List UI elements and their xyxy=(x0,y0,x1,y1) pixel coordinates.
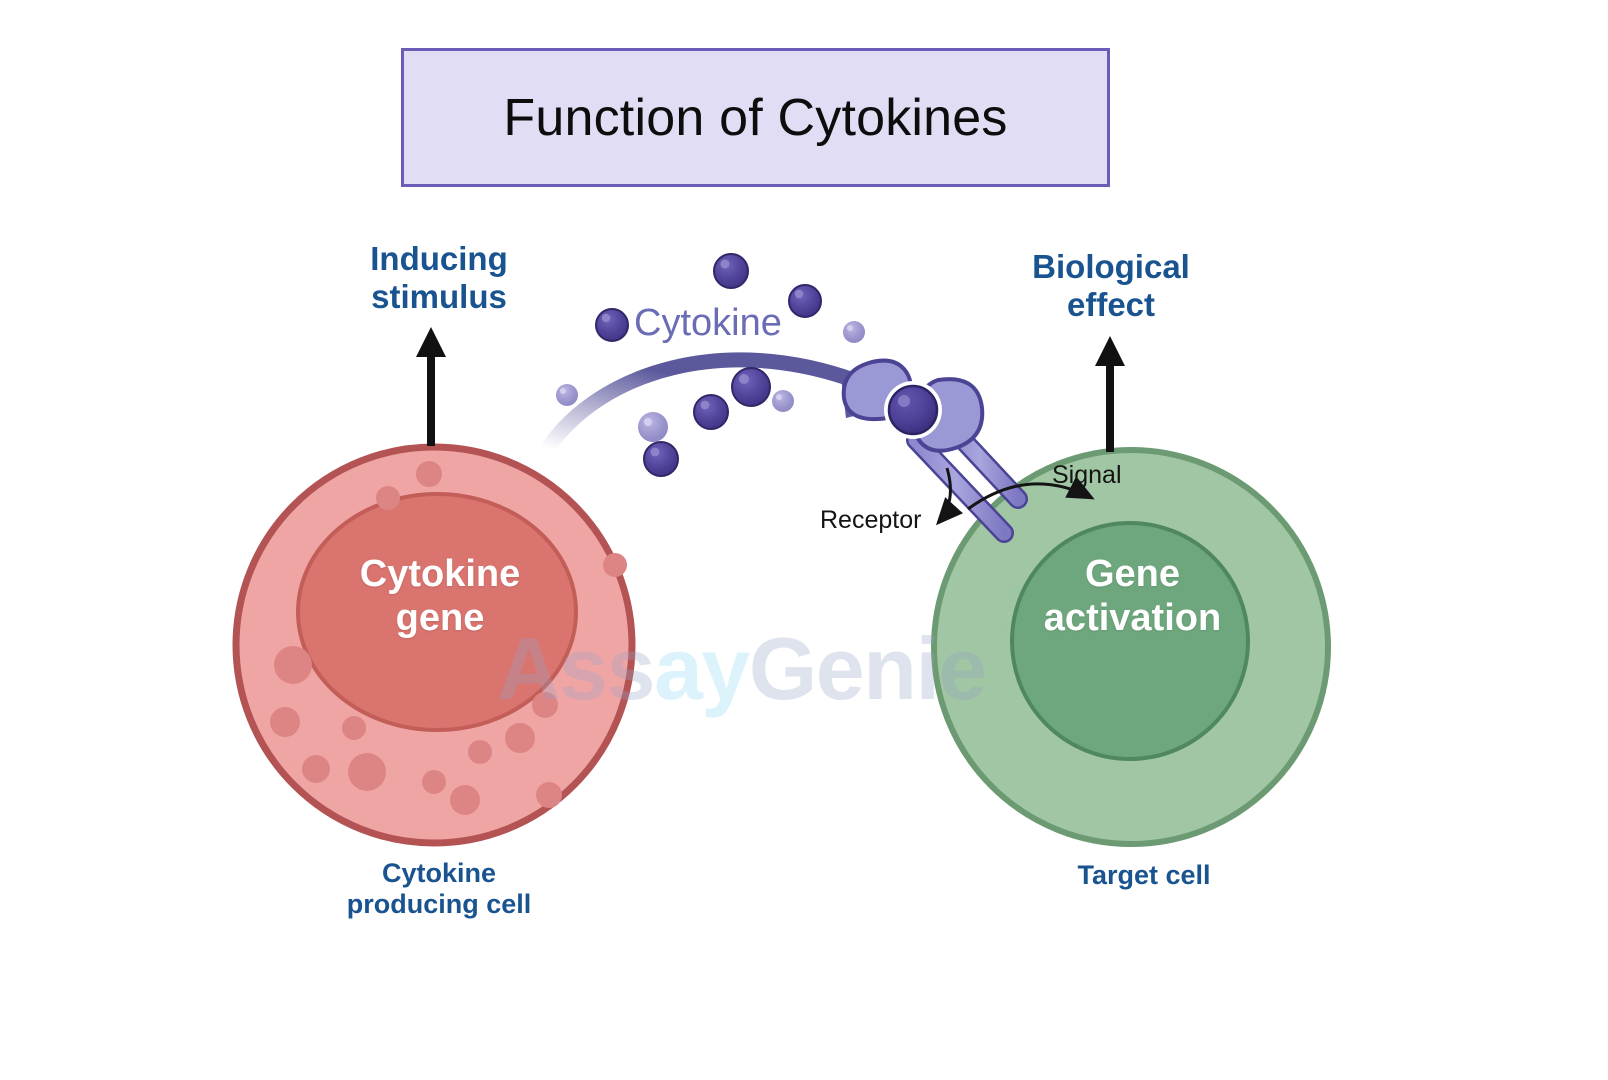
cytokine-dot xyxy=(772,390,794,412)
inducing-stimulus-arrow xyxy=(416,327,446,446)
cytokine-dot xyxy=(789,285,821,317)
diagram-canvas: AssayGenie Function of Cytokines Inducin… xyxy=(0,0,1608,1080)
cytokine-dot xyxy=(596,309,628,341)
label-cytokine: Cytokine xyxy=(634,302,782,345)
cytokine-dot xyxy=(714,254,748,288)
label-cytokine-producing-cell: Cytokine producing cell xyxy=(300,858,578,920)
label-target-cell: Target cell xyxy=(1022,860,1266,891)
label-signal: Signal xyxy=(1052,461,1122,490)
text-cytokine-gene: Cytokine gene xyxy=(300,552,580,640)
bound-cytokine-ligand xyxy=(889,386,937,434)
cytokine-dot xyxy=(556,384,578,406)
cytokine-dot xyxy=(644,442,678,476)
cytokine-dot xyxy=(732,368,770,406)
watermark-part-c: Genie xyxy=(749,619,986,718)
label-receptor: Receptor xyxy=(820,506,921,535)
label-biological-effect: Biological effect xyxy=(982,248,1240,323)
title-box: Function of Cytokines xyxy=(401,48,1110,187)
label-inducing-stimulus: Inducing stimulus xyxy=(310,240,568,315)
biological-effect-arrow xyxy=(1095,336,1125,452)
cytokine-dot xyxy=(694,395,728,429)
text-gene-activation: Gene activation xyxy=(990,552,1275,640)
watermark-part-b: ay xyxy=(654,619,749,718)
cytokine-dot xyxy=(638,412,668,442)
page-title: Function of Cytokines xyxy=(503,88,1007,148)
cytokine-dot xyxy=(843,321,865,343)
